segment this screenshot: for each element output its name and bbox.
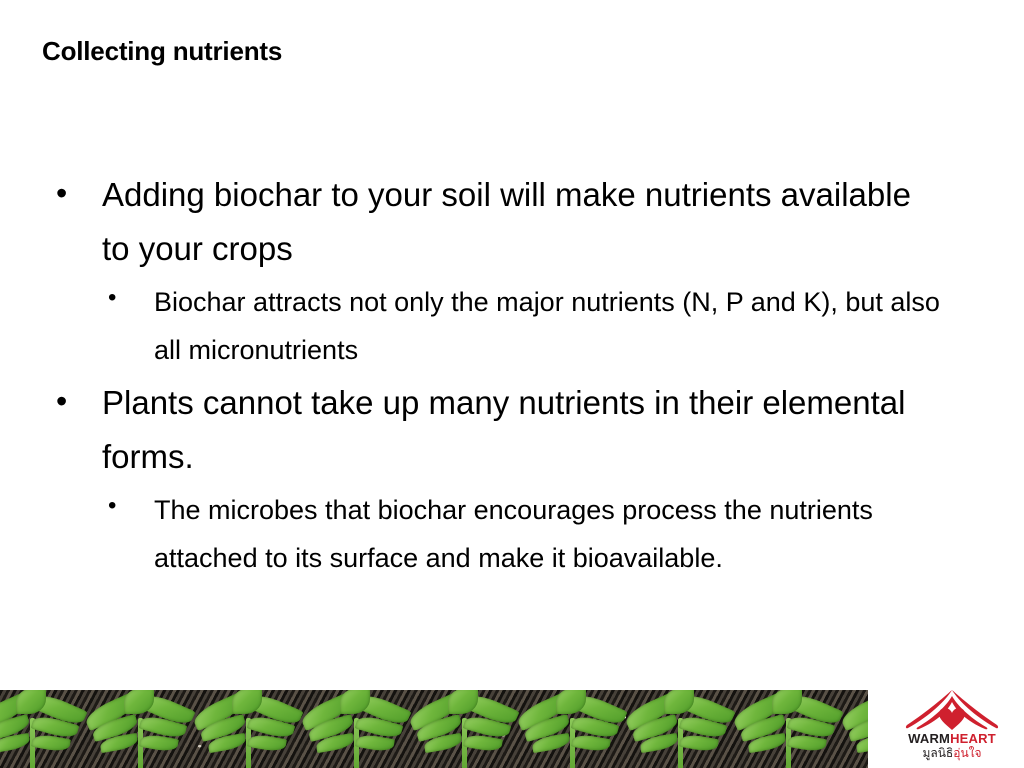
roof-heart-icon [902,688,1002,732]
list-item: • Adding biochar to your soil will make … [56,168,986,276]
list-item-text: The microbes that biochar encourages pro… [154,486,944,582]
seedling [304,690,408,768]
bullet-dot-icon: • [108,278,154,310]
seedlings-photo [0,690,868,768]
list-item: • Biochar attracts not only the major nu… [108,278,986,374]
logo-wordmark: WARMHEART [896,732,1008,746]
list-item-text: Adding biochar to your soil will make nu… [102,168,947,276]
list-item: • Plants cannot take up many nutrients i… [56,376,986,484]
slide-canvas: Collecting nutrients • Adding biochar to… [0,0,1024,768]
logo-thai-black: มูลนิธิ [922,746,953,760]
bullet-dot-icon: • [56,376,102,417]
list-item-text: Plants cannot take up many nutrients in … [102,376,947,484]
seedling [736,690,840,768]
logo-thai-red: อุ่นใจ [953,746,981,760]
seedling [412,690,516,768]
bullet-dot-icon: • [56,168,102,209]
list-item-text: Biochar attracts not only the major nutr… [154,278,944,374]
logo-word-heart: HEART [950,731,996,746]
seedling [520,690,624,768]
bullet-dot-icon: • [108,486,154,518]
seedling [844,690,868,768]
warm-heart-logo: WARMHEART มูลนิธิอุ่นใจ [896,688,1008,762]
list-item: • The microbes that biochar encourages p… [108,486,986,582]
seedling [0,690,84,768]
page-title: Collecting nutrients [42,36,282,67]
logo-thai-text: มูลนิธิอุ่นใจ [896,746,1008,760]
seedling [88,690,192,768]
logo-word-warm: WARM [908,731,950,746]
seedling [628,690,732,768]
seedling [196,690,300,768]
bullet-list: • Adding biochar to your soil will make … [56,168,986,584]
